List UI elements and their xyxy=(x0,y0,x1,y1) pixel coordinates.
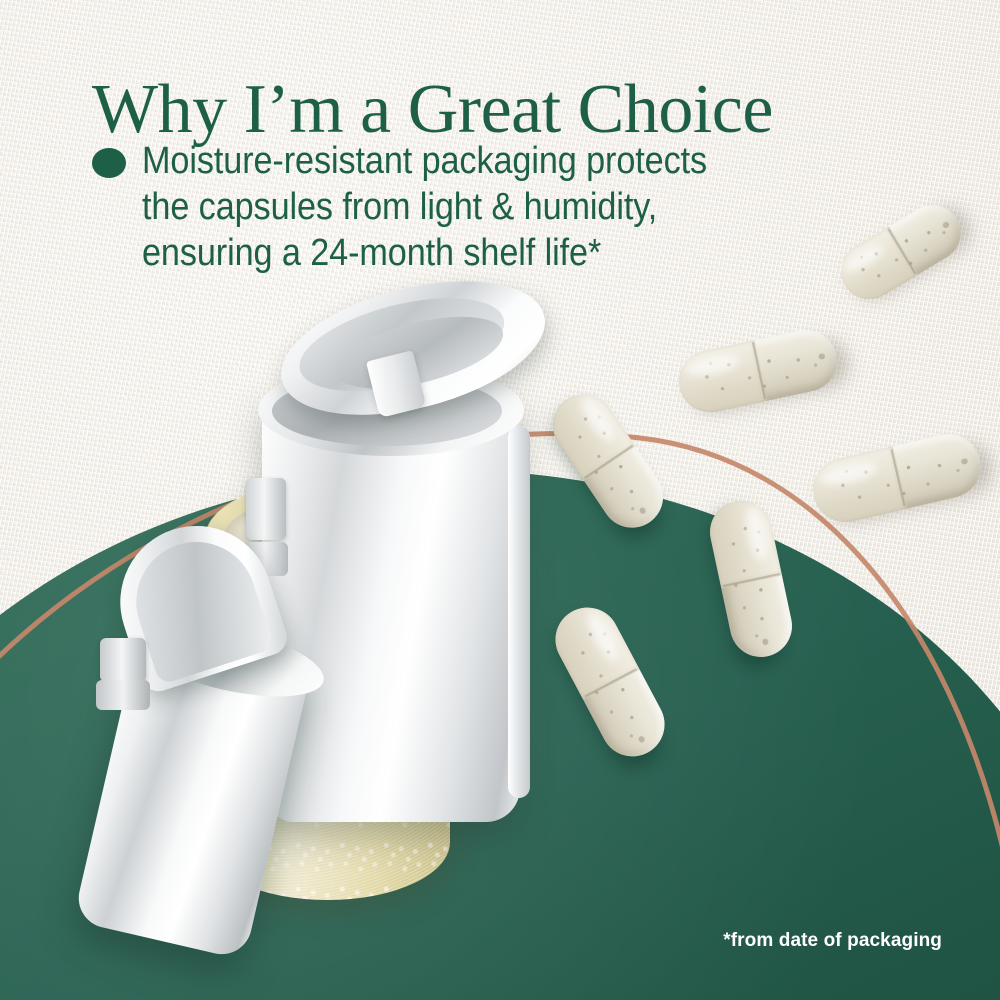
capsule-body xyxy=(831,195,971,310)
page-title: Why I’m a Great Choice xyxy=(92,73,773,147)
benefit-bullet-text: Moisture-resistant packaging protects th… xyxy=(142,139,707,277)
capsule-upper-right xyxy=(673,324,842,418)
capsule-body xyxy=(673,324,842,418)
pill-bottle-front xyxy=(112,520,332,940)
capsule-mid-right xyxy=(807,428,987,529)
bottle-front-hinge-upper xyxy=(100,638,146,682)
filled-circle-bullet-icon xyxy=(92,148,126,178)
capsule-body xyxy=(807,428,987,529)
bottle-front-hinge-lower xyxy=(96,680,150,710)
bottle-back-edge-highlight xyxy=(508,426,530,798)
marketing-graphic: Why I’m a Great Choice Moisture-resistan… xyxy=(0,0,1000,1000)
footnote-disclaimer: *from date of packaging xyxy=(723,930,942,952)
benefit-bullet-item: Moisture-resistant packaging protects th… xyxy=(92,139,770,277)
capsule-top-right xyxy=(831,195,971,310)
